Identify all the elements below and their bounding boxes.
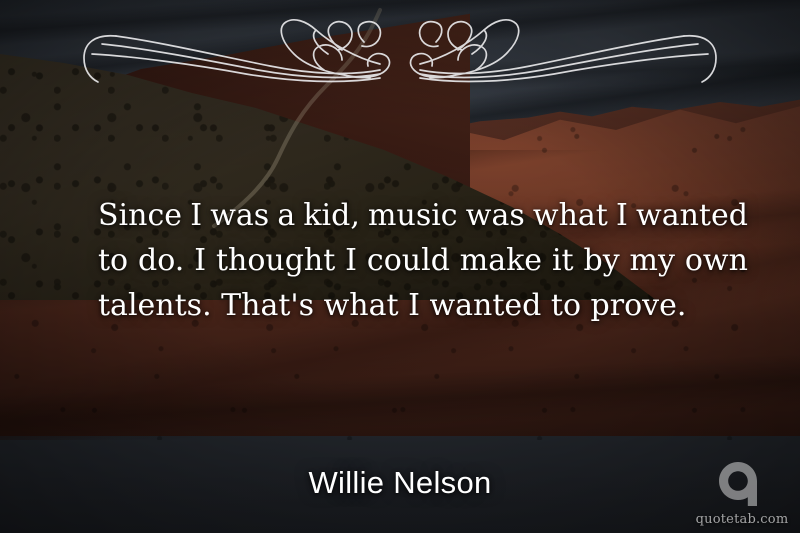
quote-word: was (210, 193, 269, 238)
logo-text: quotetab.com (692, 512, 792, 527)
quote-line-2: to do. I thought I could make it by my o… (98, 238, 748, 283)
quote-word: Since (98, 193, 182, 238)
quote-word: do. (138, 238, 184, 283)
quote-word: I (190, 193, 202, 238)
quote-word: I (345, 238, 357, 283)
site-logo[interactable]: quotetab.com (692, 458, 792, 527)
quote-word: by (584, 238, 620, 283)
quote-word: a (277, 193, 295, 238)
quote-word: make (460, 238, 542, 283)
quote-card: Since I was a kid, music was what I want… (0, 0, 800, 533)
quote-word: music (368, 193, 458, 238)
quote-word: was (466, 193, 525, 238)
quote-word: I (194, 238, 206, 283)
quote-word: what (533, 193, 608, 238)
quote-word: kid, (303, 193, 360, 238)
decorative-flourish-icon (80, 14, 720, 86)
quote-author: Willie Nelson (0, 465, 800, 501)
quote-word: my (630, 238, 675, 283)
quote-word: it (552, 238, 574, 283)
quote-line-1: Since I was a kid, music was what I want… (98, 193, 748, 238)
quote-word: own (685, 238, 748, 283)
quote-word: could (367, 238, 450, 283)
q-logo-icon (716, 458, 768, 510)
quote-line-3: talents. That's what I wanted to prove. (98, 283, 748, 328)
quote-text: Since I was a kid, music was what I want… (98, 193, 748, 328)
quote-word: thought (216, 238, 335, 283)
quote-word: wanted (636, 193, 748, 238)
quote-word: I (616, 193, 628, 238)
quote-word: to (98, 238, 128, 283)
